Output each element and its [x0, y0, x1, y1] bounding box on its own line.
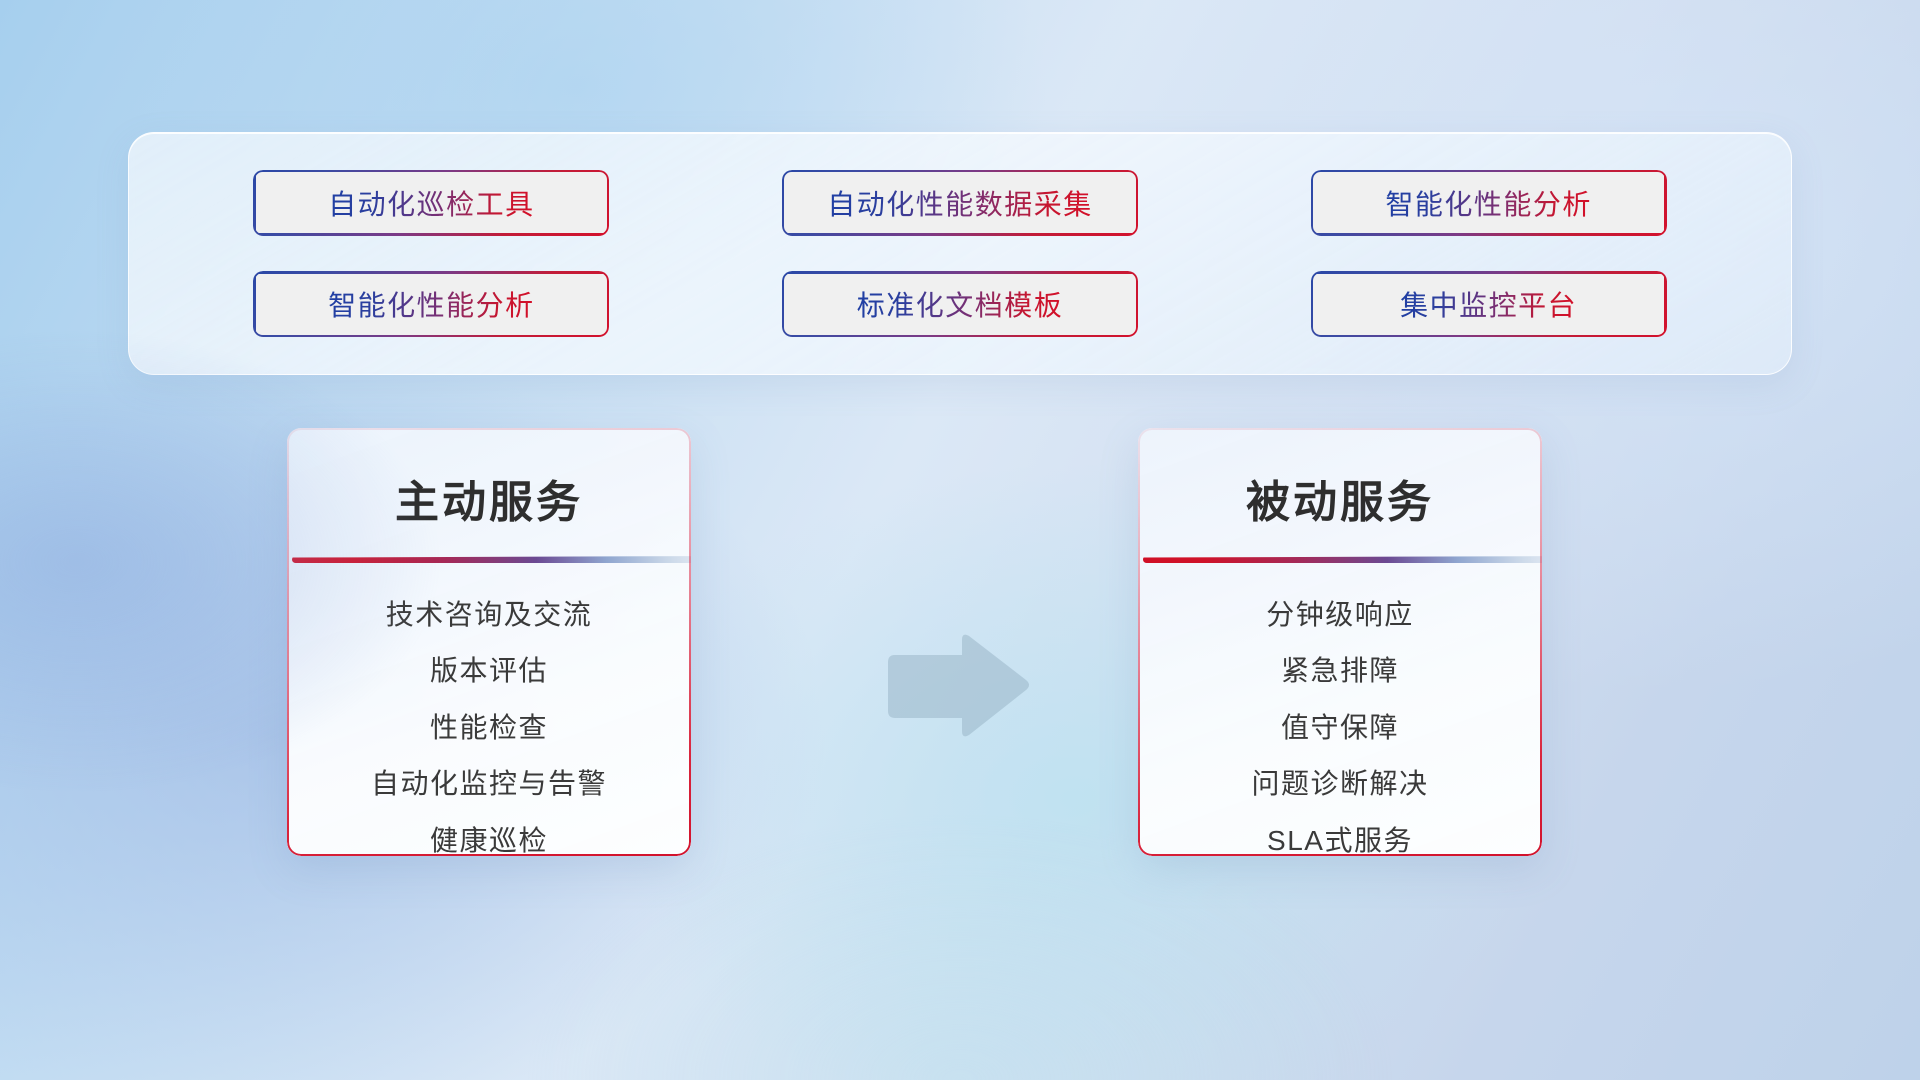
capability-chip-label: 自动化巡检工具 — [328, 183, 535, 223]
card-item: 版本评估 — [430, 653, 548, 689]
capability-chip-5[interactable]: 标准化文档模板 — [782, 271, 1138, 337]
capabilities-panel: 自动化巡检工具 自动化性能数据采集 智能化性能分析 智能化性能分析 标准化文档模… — [128, 132, 1792, 375]
capability-chip-label: 自动化性能数据采集 — [827, 183, 1093, 223]
capability-chip-label: 集中监控平台 — [1400, 284, 1577, 324]
capability-chip-label: 标准化文档模板 — [857, 284, 1064, 324]
diagram-canvas: 自动化巡检工具 自动化性能数据采集 智能化性能分析 智能化性能分析 标准化文档模… — [0, 0, 1920, 1080]
card-item: 自动化监控与告警 — [371, 766, 607, 802]
capability-chip-6[interactable]: 集中监控平台 — [1311, 271, 1667, 337]
capability-chip-2[interactable]: 自动化性能数据采集 — [782, 170, 1138, 236]
arrow-right-icon — [878, 630, 1034, 744]
card-title: 被动服务 — [1138, 466, 1542, 530]
capability-chip-3[interactable]: 智能化性能分析 — [1311, 170, 1667, 236]
service-card-passive[interactable]: 被动服务 分钟级响应 紧急排障 值守保障 问题诊断解决 SLA式服务 — [1138, 428, 1542, 856]
card-divider — [292, 556, 691, 563]
card-item: 紧急排障 — [1281, 653, 1399, 689]
card-item: 分钟级响应 — [1266, 597, 1414, 633]
service-card-active[interactable]: 主动服务 技术咨询及交流 版本评估 性能检查 自动化监控与告警 健康巡检 — [287, 428, 691, 856]
card-item-list: 分钟级响应 紧急排障 值守保障 问题诊断解决 SLA式服务 — [1138, 597, 1542, 856]
card-item: 问题诊断解决 — [1251, 766, 1428, 802]
card-title: 主动服务 — [287, 466, 691, 530]
card-item: 技术咨询及交流 — [386, 597, 593, 633]
card-item-list: 技术咨询及交流 版本评估 性能检查 自动化监控与告警 健康巡检 — [287, 597, 691, 856]
capability-chip-1[interactable]: 自动化巡检工具 — [253, 170, 609, 236]
card-item: 健康巡检 — [430, 823, 548, 856]
capability-chip-label: 智能化性能分析 — [1385, 183, 1592, 223]
card-item: 值守保障 — [1281, 710, 1399, 746]
capability-chip-4[interactable]: 智能化性能分析 — [253, 271, 609, 337]
card-item: 性能检查 — [430, 710, 548, 746]
card-item: SLA式服务 — [1267, 823, 1413, 856]
card-divider — [1143, 556, 1542, 563]
capability-chip-label: 智能化性能分析 — [328, 284, 535, 324]
